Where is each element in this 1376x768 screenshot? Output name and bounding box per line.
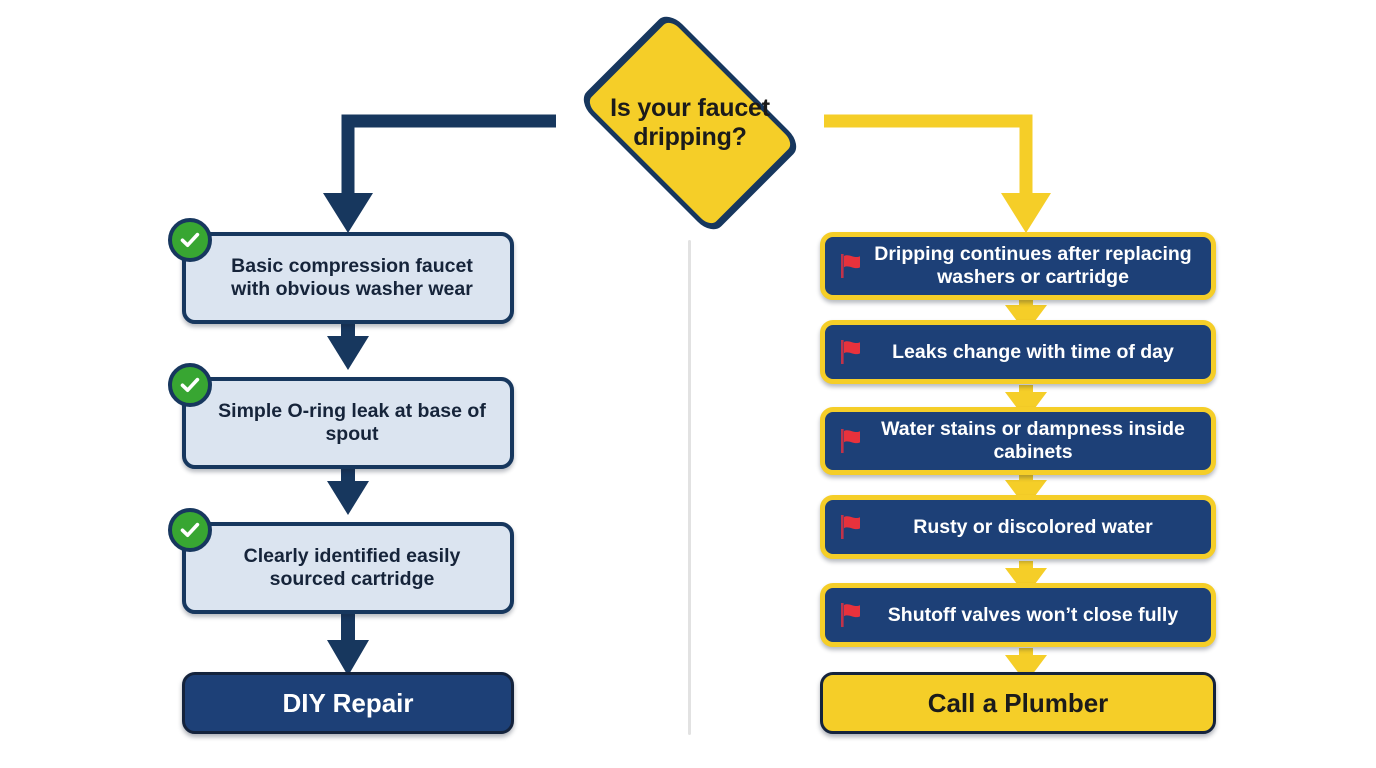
right-flag-2[interactable]: Leaks change with time of day bbox=[820, 320, 1216, 384]
right-flag-5-label: Shutoff valves won’t close fully bbox=[825, 604, 1211, 627]
right-flag-1[interactable]: Dripping continues after replacing washe… bbox=[820, 232, 1216, 300]
connector-left-3-outcome bbox=[327, 613, 369, 676]
red-flag-icon bbox=[837, 426, 867, 456]
left-outcome-diy-repair[interactable]: DIY Repair bbox=[182, 672, 514, 734]
red-flag-icon bbox=[837, 251, 867, 281]
red-flag-icon bbox=[837, 337, 867, 367]
decision-label-line2: dripping? bbox=[633, 123, 746, 151]
check-circle-icon bbox=[168, 218, 212, 262]
left-step-3-label: Clearly identified easily sourced cartri… bbox=[186, 545, 510, 590]
left-step-1[interactable]: Basic compression faucet with obvious wa… bbox=[182, 232, 514, 324]
left-step-3[interactable]: Clearly identified easily sourced cartri… bbox=[182, 522, 514, 614]
decision-label-line1: Is your faucet bbox=[610, 94, 770, 122]
right-flag-4-label: Rusty or discolored water bbox=[825, 516, 1211, 539]
red-flag-icon bbox=[837, 512, 867, 542]
right-outcome-call-plumber[interactable]: Call a Plumber bbox=[820, 672, 1216, 734]
left-step-1-label: Basic compression faucet with obvious wa… bbox=[186, 255, 510, 300]
right-flag-4[interactable]: Rusty or discolored water bbox=[820, 495, 1216, 559]
left-outcome-label: DIY Repair bbox=[282, 688, 413, 718]
right-flag-1-label: Dripping continues after replacing washe… bbox=[825, 243, 1211, 288]
right-flag-3-label: Water stains or dampness inside cabinets bbox=[825, 418, 1211, 463]
connector-left-branch bbox=[323, 121, 556, 233]
right-flag-2-label: Leaks change with time of day bbox=[825, 341, 1211, 364]
decision-node[interactable]: Is your faucet dripping? bbox=[553, 32, 827, 214]
check-circle-icon bbox=[168, 508, 212, 552]
right-flag-3[interactable]: Water stains or dampness inside cabinets bbox=[820, 407, 1216, 475]
connector-right-branch bbox=[824, 121, 1051, 233]
decision-label: Is your faucet dripping? bbox=[553, 32, 827, 214]
left-step-2-label: Simple O-ring leak at base of spout bbox=[186, 400, 510, 445]
connector-left-1-2 bbox=[327, 323, 369, 370]
branch-divider bbox=[688, 240, 691, 735]
left-step-2[interactable]: Simple O-ring leak at base of spout bbox=[182, 377, 514, 469]
connector-left-2-3 bbox=[327, 468, 369, 515]
right-outcome-label: Call a Plumber bbox=[928, 688, 1109, 718]
red-flag-icon bbox=[837, 600, 867, 630]
flowchart-canvas: Is your faucet dripping? Basic compressi… bbox=[0, 0, 1376, 768]
check-circle-icon bbox=[168, 363, 212, 407]
right-flag-5[interactable]: Shutoff valves won’t close fully bbox=[820, 583, 1216, 647]
